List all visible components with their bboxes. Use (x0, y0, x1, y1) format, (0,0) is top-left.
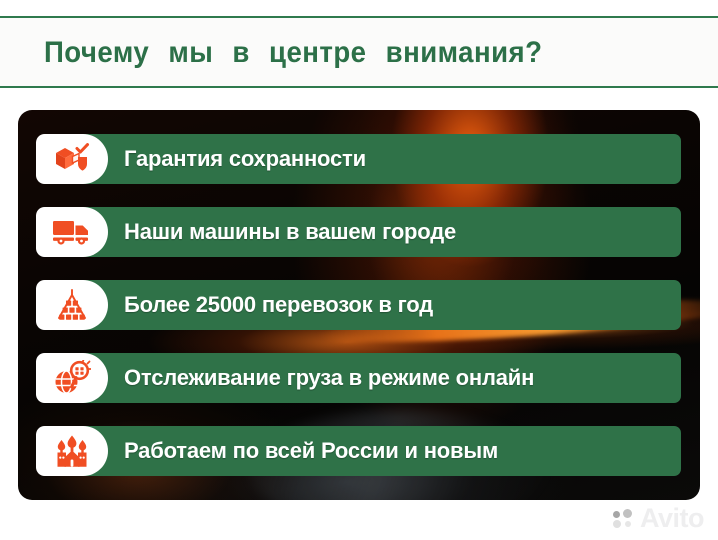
delivery-truck-icon (36, 207, 108, 257)
page-title: Почему мы в центре внимания? (44, 36, 542, 70)
avito-watermark: Avito (613, 505, 704, 532)
avito-logo-dots-icon (613, 509, 635, 529)
saint-basil-cathedral-icon (36, 426, 108, 476)
feature-label: Работаем по всей России и новым (124, 426, 498, 476)
header-band: Почему мы в центре внимания? (0, 16, 718, 88)
features-card: Гарантия сохранности (18, 110, 700, 500)
box-shield-check-icon (36, 134, 108, 184)
crane-cargo-boxes-icon (36, 280, 108, 330)
feature-label: Наши машины в вашем городе (124, 207, 456, 257)
feature-label: Отслеживание груза в режиме онлайн (124, 353, 534, 403)
feature-list: Гарантия сохранности (18, 110, 700, 500)
globe-magnifier-tracking-icon (36, 353, 108, 403)
advertisement-slide: Почему мы в центре внимания? (0, 0, 718, 540)
feature-label: Более 25000 перевозок в год (124, 280, 433, 330)
list-item: Гарантия сохранности (36, 134, 681, 184)
list-item: Работаем по всей России и новым (36, 426, 681, 476)
list-item: Более 25000 перевозок в год (36, 280, 681, 330)
avito-watermark-text: Avito (640, 505, 704, 532)
feature-label: Гарантия сохранности (124, 134, 366, 184)
list-item: Наши машины в вашем городе (36, 207, 681, 257)
list-item: Отслеживание груза в режиме онлайн (36, 353, 681, 403)
